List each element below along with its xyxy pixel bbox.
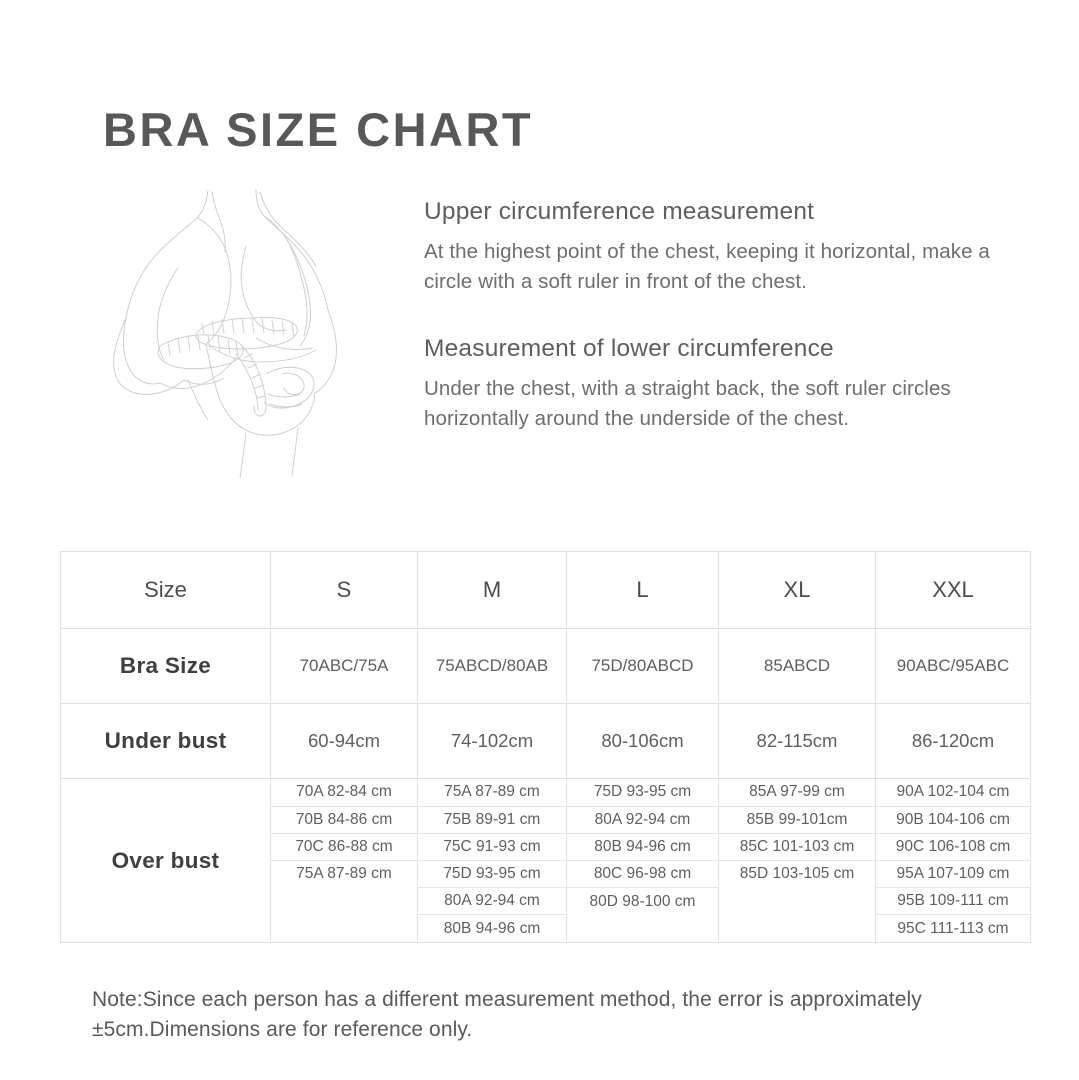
- list-item: 90A 102-104 cm: [876, 779, 1030, 806]
- row-label-bra-size: Bra Size: [61, 629, 271, 704]
- instruction-block-lower: Measurement of lower circumference Under…: [424, 333, 1004, 434]
- header-cell-s: S: [271, 552, 418, 629]
- bra-size-m: 75ABCD/80AB: [418, 629, 567, 704]
- page-title: BRA SIZE CHART: [103, 104, 533, 156]
- over-bust-sublist-xl: 85A 97-99 cm 85B 99-101cm 85C 101-103 cm…: [719, 779, 875, 942]
- header-cell-xl: XL: [719, 552, 876, 629]
- size-table-container: Size S M L XL XXL Bra Size 70ABC/75A 75A…: [60, 551, 1030, 943]
- header-cell-size: Size: [61, 552, 271, 629]
- list-item: 75A 87-89 cm: [418, 779, 566, 806]
- list-item: 95A 107-109 cm: [876, 861, 1030, 888]
- list-item: 85D 103-105 cm: [719, 861, 875, 888]
- over-bust-sublist-l: 75D 93-95 cm 80A 92-94 cm 80B 94-96 cm 8…: [567, 779, 718, 942]
- list-item: 85A 97-99 cm: [719, 779, 875, 806]
- list-item-empty: [719, 888, 875, 915]
- table-header-row: Size S M L XL XXL: [61, 552, 1031, 629]
- torso-measuring-illustration: [60, 178, 405, 478]
- size-table: Size S M L XL XXL Bra Size 70ABC/75A 75A…: [60, 551, 1031, 943]
- header-cell-xxl: XXL: [876, 552, 1031, 629]
- list-item: 90C 106-108 cm: [876, 833, 1030, 860]
- list-item: 70A 82-84 cm: [271, 779, 417, 806]
- list-item: 80C 96-98 cm: [567, 861, 718, 888]
- header-cell-m: M: [418, 552, 567, 629]
- list-item: 80D 98-100 cm: [567, 888, 718, 915]
- list-item: 85C 101-103 cm: [719, 833, 875, 860]
- under-bust-xxl: 86-120cm: [876, 704, 1031, 779]
- list-item: 95B 109-111 cm: [876, 888, 1030, 915]
- upper-measurement-body: At the highest point of the chest, keepi…: [424, 237, 1004, 297]
- list-item: 70C 86-88 cm: [271, 833, 417, 860]
- list-item: 75D 93-95 cm: [567, 779, 718, 806]
- over-bust-cell-xxl: 90A 102-104 cm 90B 104-106 cm 90C 106-10…: [876, 779, 1031, 943]
- row-label-under-bust: Under bust: [61, 704, 271, 779]
- list-item: 75D 93-95 cm: [418, 861, 566, 888]
- list-item-empty: [271, 915, 417, 942]
- list-item: 95C 111-113 cm: [876, 915, 1030, 942]
- over-bust-cell-xl: 85A 97-99 cm 85B 99-101cm 85C 101-103 cm…: [719, 779, 876, 943]
- list-item: 75B 89-91 cm: [418, 806, 566, 833]
- header-cell-l: L: [567, 552, 719, 629]
- list-item: 80A 92-94 cm: [418, 888, 566, 915]
- table-row-under-bust: Under bust 60-94cm 74-102cm 80-106cm 82-…: [61, 704, 1031, 779]
- list-item: 80A 92-94 cm: [567, 806, 718, 833]
- under-bust-l: 80-106cm: [567, 704, 719, 779]
- bra-size-xl: 85ABCD: [719, 629, 876, 704]
- list-item-empty: [271, 888, 417, 915]
- over-bust-cell-s: 70A 82-84 cm 70B 84-86 cm 70C 86-88 cm 7…: [271, 779, 418, 943]
- bra-size-l: 75D/80ABCD: [567, 629, 719, 704]
- list-item-empty: [719, 915, 875, 942]
- list-item: 80B 94-96 cm: [567, 833, 718, 860]
- measurement-instructions: Upper circumference measurement At the h…: [424, 196, 1004, 434]
- over-bust-sublist-s: 70A 82-84 cm 70B 84-86 cm 70C 86-88 cm 7…: [271, 779, 417, 942]
- lower-measurement-body: Under the chest, with a straight back, t…: [424, 374, 1004, 434]
- under-bust-xl: 82-115cm: [719, 704, 876, 779]
- bra-size-s: 70ABC/75A: [271, 629, 418, 704]
- list-item: 85B 99-101cm: [719, 806, 875, 833]
- over-bust-cell-m: 75A 87-89 cm 75B 89-91 cm 75C 91-93 cm 7…: [418, 779, 567, 943]
- over-bust-cell-l: 75D 93-95 cm 80A 92-94 cm 80B 94-96 cm 8…: [567, 779, 719, 943]
- under-bust-s: 60-94cm: [271, 704, 418, 779]
- list-item: 75A 87-89 cm: [271, 861, 417, 888]
- table-row-bra-size: Bra Size 70ABC/75A 75ABCD/80AB 75D/80ABC…: [61, 629, 1031, 704]
- over-bust-sublist-m: 75A 87-89 cm 75B 89-91 cm 75C 91-93 cm 7…: [418, 779, 566, 942]
- upper-measurement-heading: Upper circumference measurement: [424, 196, 1004, 228]
- list-item: 90B 104-106 cm: [876, 806, 1030, 833]
- table-row-over-bust: Over bust 70A 82-84 cm 70B 84-86 cm 70C …: [61, 779, 1031, 943]
- row-label-over-bust: Over bust: [61, 779, 271, 943]
- list-item: 80B 94-96 cm: [418, 915, 566, 942]
- bra-size-chart-page: BRA SIZE CHART: [0, 0, 1079, 1080]
- instruction-block-upper: Upper circumference measurement At the h…: [424, 196, 1004, 297]
- list-item-empty: [567, 915, 718, 942]
- list-item: 75C 91-93 cm: [418, 833, 566, 860]
- list-item: 70B 84-86 cm: [271, 806, 417, 833]
- lower-measurement-heading: Measurement of lower circumference: [424, 333, 1004, 365]
- under-bust-m: 74-102cm: [418, 704, 567, 779]
- bra-size-xxl: 90ABC/95ABC: [876, 629, 1031, 704]
- over-bust-sublist-xxl: 90A 102-104 cm 90B 104-106 cm 90C 106-10…: [876, 779, 1030, 942]
- disclaimer-note: Note:Since each person has a different m…: [92, 985, 992, 1045]
